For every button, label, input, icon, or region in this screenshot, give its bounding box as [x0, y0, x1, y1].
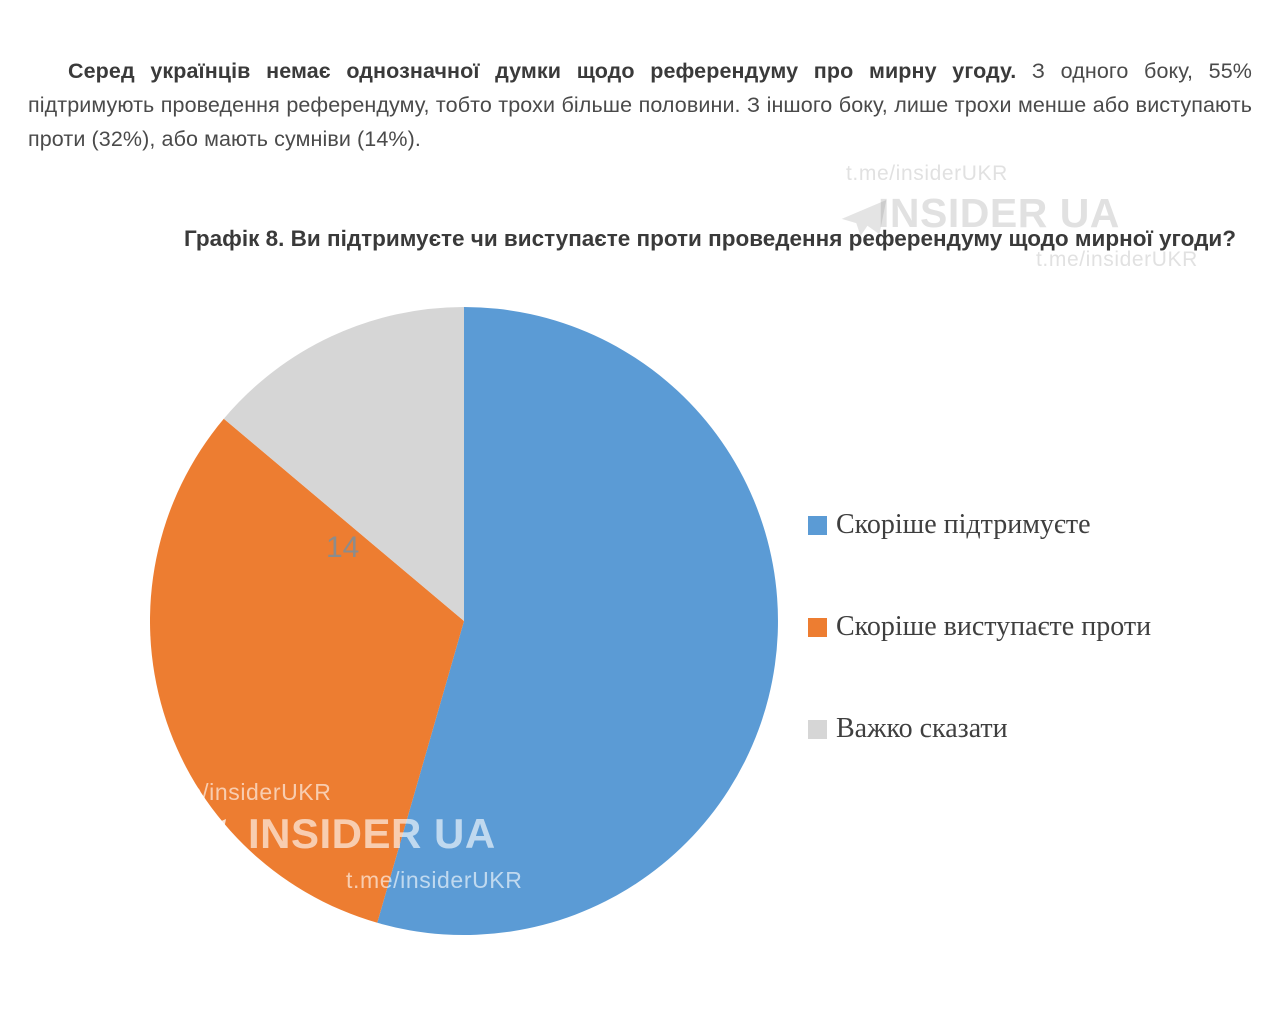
legend-label-hard-to-say: Важко сказати [836, 713, 1008, 745]
chart-legend: Скоріше підтримуєте Скоріше виступаєте п… [808, 474, 1268, 780]
legend-swatch-against [808, 618, 827, 637]
pie-slice-value-against: 32 [176, 983, 209, 1017]
legend-swatch-hard-to-say [808, 720, 827, 739]
legend-label-against: Скоріше виступаєте проти [836, 611, 1151, 643]
legend-label-support: Скоріше підтримуєте [836, 509, 1091, 541]
pie-chart: 55 32 14 t.me/insiderUKR INSIDER UA t.me… [150, 301, 778, 941]
intro-paragraph: Серед українців немає однозначної думки … [28, 54, 1252, 156]
legend-item-support[interactable]: Скоріше підтримуєте [808, 474, 1268, 576]
legend-item-hard-to-say[interactable]: Важко сказати [808, 678, 1268, 780]
intro-lead-sentence: Серед українців немає однозначної думки … [68, 59, 1016, 83]
pie-svg [150, 301, 778, 941]
pie-chart-figure: Графік 8. Ви підтримуєте чи виступаєте п… [40, 206, 1280, 966]
legend-item-against[interactable]: Скоріше виступаєте проти [808, 576, 1268, 678]
legend-swatch-support [808, 516, 827, 535]
watermark-url-top: t.me/insiderUKR [846, 162, 1008, 186]
chart-title: Графік 8. Ви підтримуєте чи виступаєте п… [130, 218, 1280, 260]
